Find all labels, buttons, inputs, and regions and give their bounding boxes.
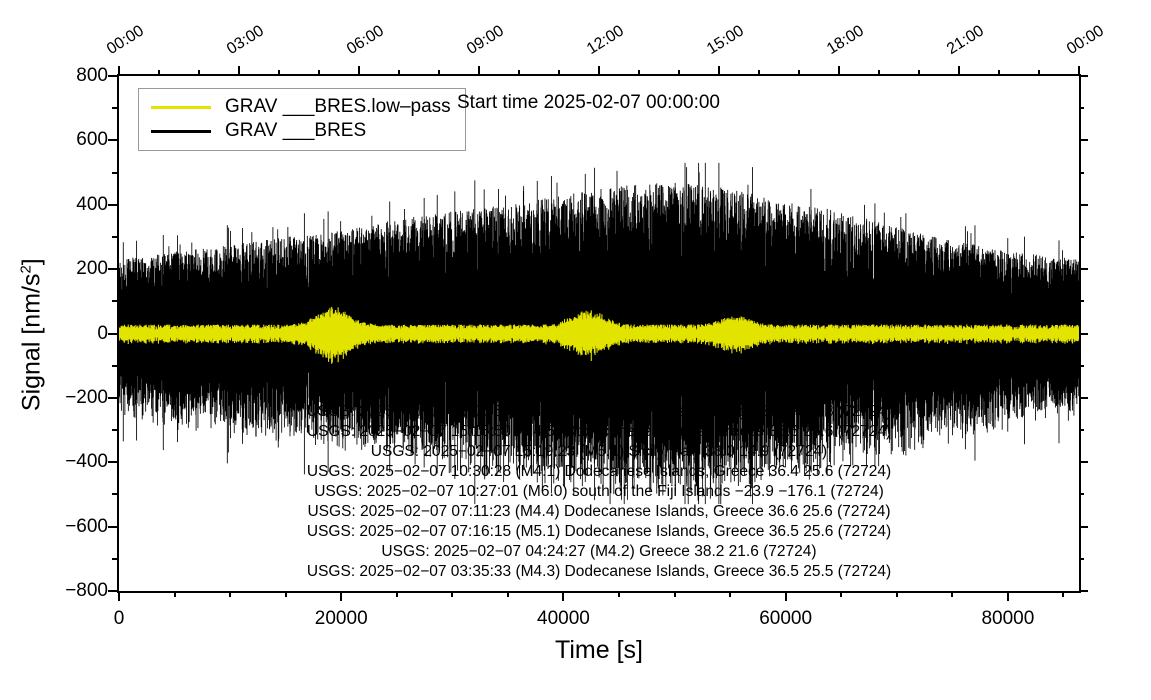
x-axis-tick-labels: 020000400006000080000 [0,601,1151,631]
y-tick-minor [112,558,117,560]
usgs-event-line: USGS: 2025−02−07 10:30:28 (M4.1) Dodecan… [119,462,1079,482]
top-tick-label: 09:00 [465,23,507,58]
top-tick-major [358,66,360,75]
top-tick-minor [678,70,680,75]
y-tick-major [108,590,117,592]
top-tick-major [598,66,600,75]
y-tick-major-right [1079,204,1088,206]
y-tick-major [108,526,117,528]
x-tick-minor [840,592,842,597]
x-tick-minor [729,592,731,597]
y-tick-minor [112,429,117,431]
top-tick-minor [998,70,1000,75]
top-tick-minor [438,70,440,75]
top-tick-minor [758,70,760,75]
top-tick-label: 15:00 [705,23,747,58]
usgs-event-line: USGS: 2025−02−07 15:16:50 (M4.5) Dodecan… [119,422,1079,442]
y-tick-major-right [1079,333,1088,335]
top-tick-label: 00:00 [1065,23,1107,58]
top-tick-label: 18:00 [825,23,867,58]
y-tick-minor-right [1079,365,1084,367]
top-tick-minor [198,70,200,75]
y-tick-minor-right [1079,429,1084,431]
usgs-event-line: USGS: 2025−02−07 04:24:27 (M4.2) Greece … [119,542,1079,562]
x-axis-bottom-line [117,591,1081,593]
y-axis-title-main: Signal [nm/s [18,274,46,412]
y-axis-title-tail: ] [18,258,46,265]
y-tick-minor [112,107,117,109]
y-tick-minor-right [1079,236,1084,238]
x-tick-minor [896,592,898,597]
seismogram-figure: −800−600−400−2000200400600800 00:0003:00… [0,0,1151,700]
usgs-event-line: USGS: 2025−02−07 08:06:50 (M4.5) norther… [119,402,1079,422]
x-tick-minor [396,592,398,597]
usgs-event-line: USGS: 2025−02−07 07:16:15 (M5.1) Dodecan… [119,522,1079,542]
top-tick-minor [558,70,560,75]
y-tick-minor [112,236,117,238]
top-tick-label: 12:00 [585,23,627,58]
start-time-label: Start time 2025-02-07 00:00:00 [457,92,720,114]
top-tick-minor [878,70,880,75]
top-tick-minor [638,70,640,75]
legend: GRAV ___BRES.low–passGRAV ___BRES [138,88,466,151]
top-tick-major [838,66,840,75]
y-tick-major-right [1079,139,1088,141]
legend-item: GRAV ___BRES.low–pass [151,95,451,119]
x-tick-major [785,592,787,601]
top-tick-minor [398,70,400,75]
y-tick-minor [112,493,117,495]
top-tick-minor [798,70,800,75]
usgs-event-line: USGS: 2025−02−07 15:19:23 (M5.1) Sicily,… [119,442,1079,462]
y-axis-title: Signal [nm/s2] [17,135,46,535]
x-tick-label: 80000 [981,609,1034,628]
x-tick-label: 0 [114,609,125,628]
usgs-event-line: USGS: 2025−02−07 03:35:33 (M4.3) Dodecan… [119,562,1079,582]
x-tick-label: 40000 [537,609,590,628]
top-tick-minor [158,70,160,75]
y-tick-major-right [1079,526,1088,528]
y-tick-major [108,204,117,206]
y-tick-major-right [1079,268,1088,270]
legend-color-swatch [151,130,211,133]
x-tick-major [1007,592,1009,601]
x-tick-minor [1062,592,1064,597]
y-tick-minor-right [1079,300,1084,302]
top-tick-minor [518,70,520,75]
x-tick-minor [674,592,676,597]
top-tick-minor [1038,70,1040,75]
top-tick-major [478,66,480,75]
top-tick-minor [918,70,920,75]
x-tick-major [118,592,120,601]
x-tick-minor [285,592,287,597]
legend-label: GRAV ___BRES [225,120,366,142]
x-tick-minor [174,592,176,597]
y-tick-minor-right [1079,558,1084,560]
usgs-event-line: USGS: 2025−02−07 10:27:01 (M6.0) south o… [119,482,1079,502]
top-tick-label: 06:00 [345,23,387,58]
x-tick-label: 20000 [315,609,368,628]
y-tick-minor [112,300,117,302]
y-tick-minor-right [1079,172,1084,174]
top-tick-major [238,66,240,75]
top-tick-major [958,66,960,75]
x-axis-title: Time [s] [117,636,1081,665]
y-tick-major [108,75,117,77]
y-tick-minor-right [1079,107,1084,109]
top-tick-minor [318,70,320,75]
y-tick-major-right [1079,590,1088,592]
y-tick-minor-right [1079,493,1084,495]
x-tick-minor [951,592,953,597]
y-axis-title-exponent: 2 [17,265,34,273]
y-tick-minor [112,365,117,367]
top-axis-tick-labels: 00:0003:0006:0009:0012:0015:0018:0021:00… [0,0,1151,74]
usgs-event-line: USGS: 2025−02−07 07:11:23 (M4.4) Dodecan… [119,502,1079,522]
y-tick-major [108,461,117,463]
top-tick-label: 03:00 [225,23,267,58]
usgs-event-annotations: USGS: 2025−02−07 08:06:50 (M4.5) norther… [119,402,1079,582]
x-tick-label: 60000 [759,609,812,628]
top-tick-major [118,66,120,75]
y-tick-major-right [1079,397,1088,399]
top-tick-major [718,66,720,75]
legend-item: GRAV ___BRES [151,119,451,143]
y-tick-major [108,268,117,270]
x-tick-minor [229,592,231,597]
y-tick-major [108,139,117,141]
x-tick-minor [618,592,620,597]
legend-label: GRAV ___BRES.low–pass [225,96,451,118]
y-tick-minor [112,172,117,174]
top-tick-minor [278,70,280,75]
x-tick-major [340,592,342,601]
y-tick-major-right [1079,461,1088,463]
x-tick-major [562,592,564,601]
top-tick-label: 00:00 [105,23,147,58]
x-tick-minor [507,592,509,597]
y-tick-major-right [1079,75,1088,77]
top-tick-major [1078,66,1080,75]
y-tick-major [108,333,117,335]
x-tick-minor [451,592,453,597]
y-tick-label: −800 [30,581,108,600]
top-tick-label: 21:00 [945,23,987,58]
legend-color-swatch [151,106,211,109]
y-tick-major [108,397,117,399]
